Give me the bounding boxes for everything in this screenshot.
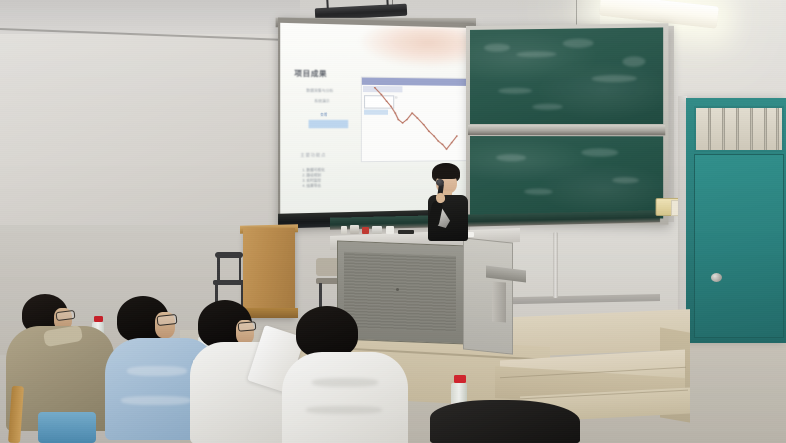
desk-box-white bbox=[386, 226, 394, 234]
dark-bag bbox=[430, 400, 580, 443]
desk-cup bbox=[341, 226, 347, 234]
glasses-icon bbox=[238, 321, 257, 332]
slide-highlight-bar bbox=[308, 120, 347, 128]
slide-section-heading: 主要功能点 bbox=[300, 152, 326, 159]
wall-conduit-pipe bbox=[553, 232, 558, 298]
attendee-shirt bbox=[282, 352, 408, 443]
slide-bullet-list: 1. 数据可视化 2. 路径规划 3. 实时监控 4. 结果导出 bbox=[302, 167, 324, 189]
door-handle-icon[interactable] bbox=[711, 273, 722, 282]
presenter bbox=[418, 163, 476, 241]
microphone-head-icon bbox=[436, 179, 444, 186]
presenter-fringe bbox=[434, 170, 459, 179]
glasses-icon bbox=[56, 310, 76, 321]
blackboard-lower-panel bbox=[470, 136, 663, 219]
glasses-icon bbox=[157, 314, 178, 326]
slide-button-label: 查看 bbox=[320, 112, 327, 117]
slide-background-image bbox=[359, 25, 472, 68]
door-transom-window bbox=[694, 106, 784, 152]
blackboard bbox=[466, 23, 668, 224]
console-lock-icon[interactable] bbox=[396, 288, 399, 291]
blackboard-upper-panel bbox=[470, 27, 663, 124]
left-wall-upper bbox=[0, 30, 290, 230]
console-support-leg bbox=[492, 282, 506, 323]
blue-chair bbox=[38, 412, 96, 443]
classroom-photo: 项目成果 数据采集与分析 系统演示 查看 主要功能点 1. 数据可视化 2. 路… bbox=[0, 0, 786, 443]
route-line-chart bbox=[362, 77, 467, 161]
attendee-white-shirt-right bbox=[282, 306, 432, 443]
desk-marker-red bbox=[362, 227, 369, 234]
slide-subtitle-1: 数据采集与分析 bbox=[306, 88, 333, 93]
list-item: 4. 结果导出 bbox=[302, 184, 324, 190]
blackboard-chalk-ledge bbox=[468, 125, 665, 135]
door-panel bbox=[694, 154, 784, 338]
desk-remote bbox=[398, 230, 414, 234]
desk-eraser bbox=[372, 226, 382, 234]
attendee-head bbox=[296, 306, 358, 358]
slide-subtitle-2: 系统演示 bbox=[314, 99, 329, 104]
classroom-door[interactable] bbox=[686, 98, 786, 343]
bottle-cap bbox=[454, 375, 466, 383]
desk-chalk-box bbox=[350, 225, 359, 234]
slide-app-screenshot: 30 bbox=[361, 76, 468, 162]
slide-title: 项目成果 bbox=[294, 69, 327, 80]
